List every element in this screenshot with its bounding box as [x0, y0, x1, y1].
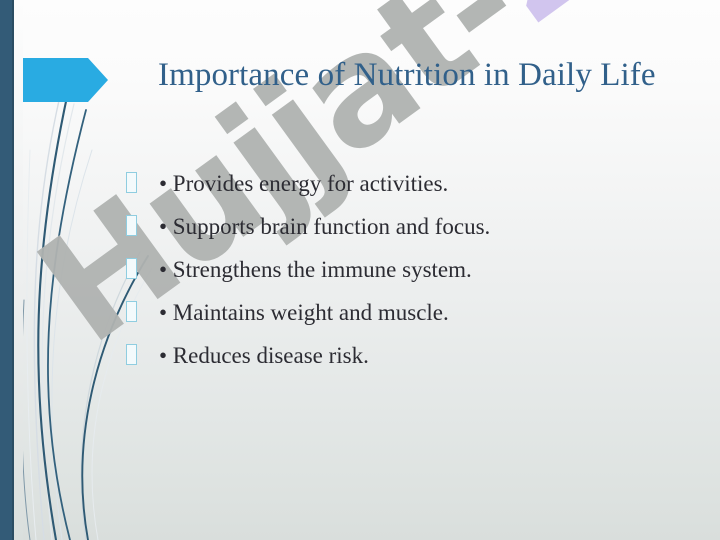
- list-item-label: • Strengthens the immune system.: [159, 257, 472, 283]
- left-edge-gap: [14, 0, 23, 540]
- list-item-label: • Reduces disease risk.: [159, 343, 369, 369]
- slide-canvas: Hujjat-24 Importance of Nutrition in Dai…: [0, 0, 720, 540]
- list-item-label: • Provides energy for activities.: [159, 171, 448, 197]
- list-item-label: • Supports brain function and focus.: [159, 214, 490, 240]
- watermark-number-text: 24: [448, 0, 713, 59]
- list-item-label: • Maintains weight and muscle.: [159, 300, 449, 326]
- bullet-list: • Provides energy for activities. • Supp…: [126, 170, 686, 385]
- tofu-box-icon: [126, 344, 137, 365]
- list-item: • Maintains weight and muscle.: [126, 299, 686, 342]
- tofu-box-icon: [126, 215, 137, 236]
- tofu-box-icon: [126, 172, 137, 193]
- list-item: • Strengthens the immune system.: [126, 256, 686, 299]
- list-item: • Reduces disease risk.: [126, 342, 686, 385]
- list-item: • Supports brain function and focus.: [126, 213, 686, 256]
- list-item: • Provides energy for activities.: [126, 170, 686, 213]
- left-edge-bar: [0, 0, 12, 540]
- tofu-box-icon: [126, 258, 137, 279]
- tofu-box-icon: [126, 301, 137, 322]
- slide-title: Importance of Nutrition in Daily Life: [158, 54, 658, 98]
